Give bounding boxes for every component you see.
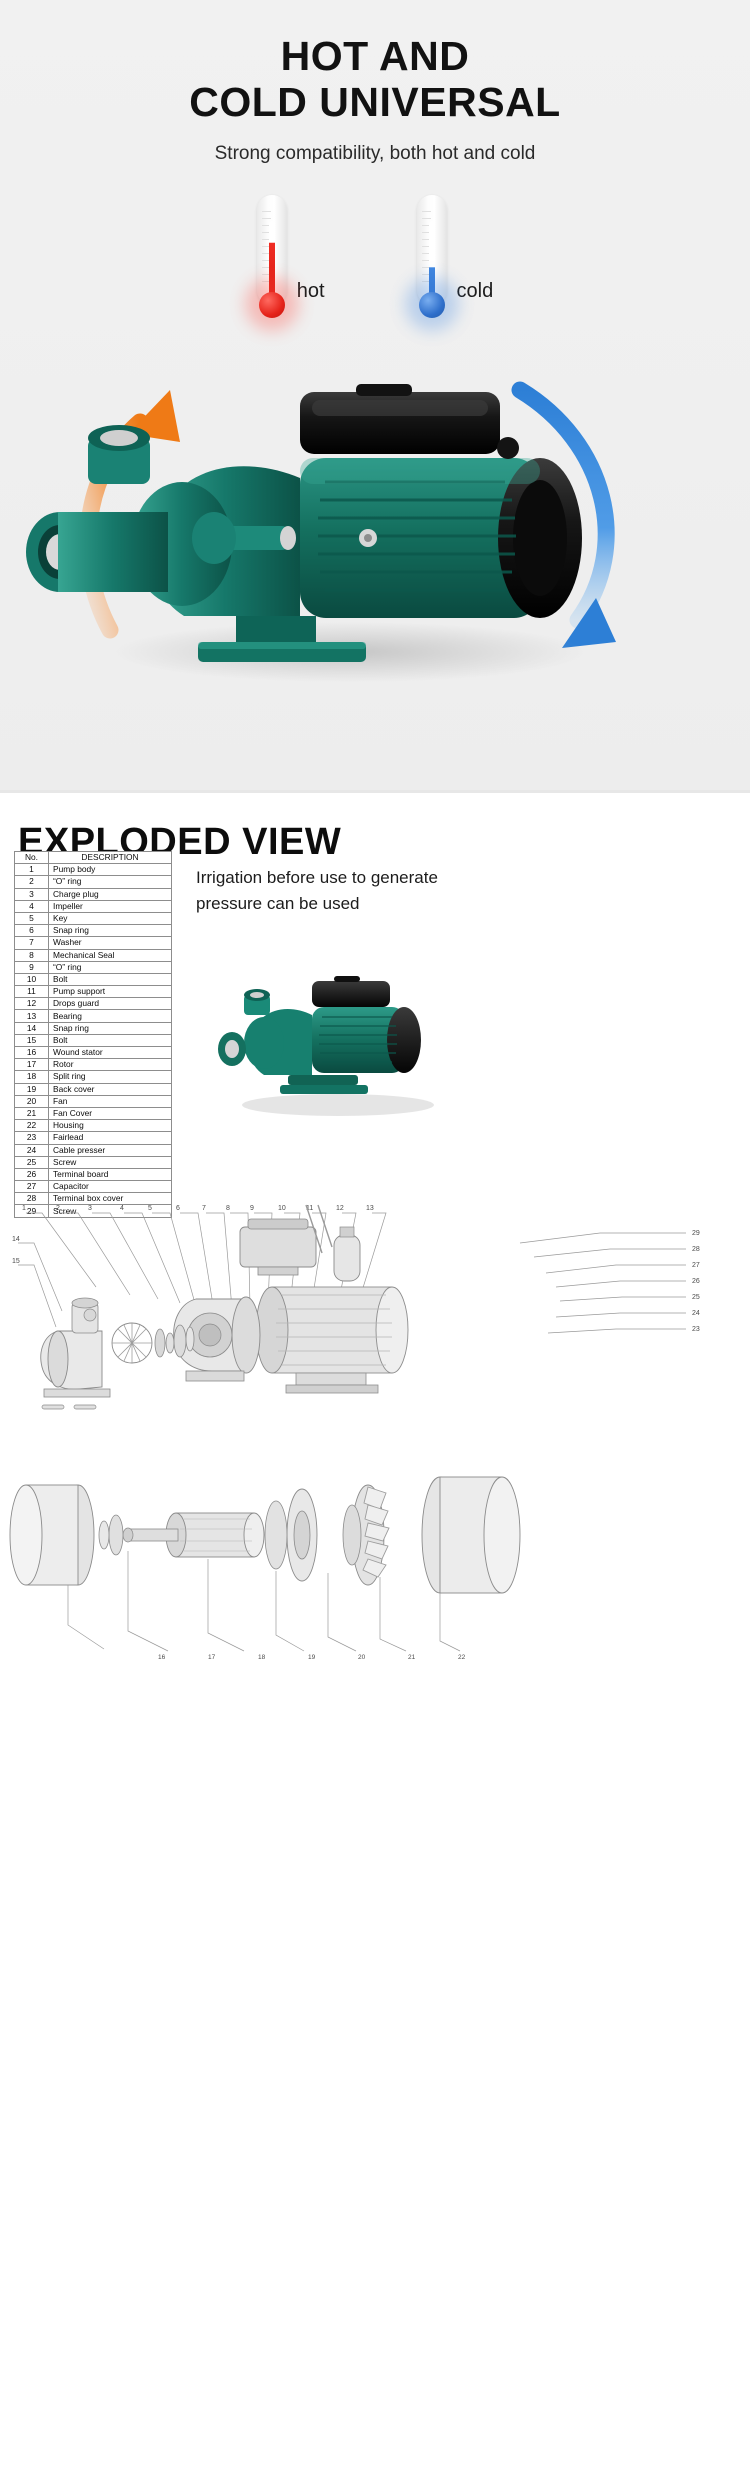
- table-row: 12Drops guard: [15, 998, 172, 1010]
- page-title: HOT AND COLD UNIVERSAL: [0, 0, 750, 126]
- cold-label: cold: [457, 280, 494, 305]
- svg-text:13: 13: [366, 1205, 374, 1212]
- svg-text:25: 25: [692, 1294, 700, 1301]
- part-description-cell: Key: [49, 912, 172, 924]
- part-number-cell: 16: [15, 1047, 49, 1059]
- pump-discharge-port: [88, 425, 150, 484]
- part-description-cell: Pump support: [49, 986, 172, 998]
- part-description-cell: Charge plug: [49, 888, 172, 900]
- page-title-line-1: HOT AND: [281, 33, 470, 79]
- part-number-cell: 17: [15, 1059, 49, 1071]
- table-row: 23Fairlead: [15, 1132, 172, 1144]
- part-number-cell: 23: [15, 1132, 49, 1144]
- thermometer-hot-icon: [257, 195, 287, 305]
- part-description-cell: Snap ring: [49, 1022, 172, 1034]
- part-end-bell: [10, 1485, 94, 1585]
- table-row: 8Mechanical Seal: [15, 949, 172, 961]
- column-header-description: DESCRIPTION: [49, 852, 172, 864]
- table-row: 19Back cover: [15, 1083, 172, 1095]
- part-description-cell: Terminal board: [49, 1168, 172, 1180]
- exploded-diagram-main-svg: 123 456 789 101112 13 1415 292827 262524…: [0, 1191, 750, 1441]
- svg-text:10: 10: [278, 1205, 286, 1212]
- table-row: 9“O” ring: [15, 961, 172, 973]
- part-description-cell: Wound stator: [49, 1047, 172, 1059]
- leader-lines-bottom: [68, 1551, 460, 1651]
- table-row: 5Key: [15, 912, 172, 924]
- callout-labels-top: 123 456 789 101112 13 1415: [12, 1205, 374, 1265]
- part-number-cell: 13: [15, 1010, 49, 1022]
- part-number-cell: 3: [15, 888, 49, 900]
- table-row: 10Bolt: [15, 973, 172, 985]
- svg-text:15: 15: [12, 1258, 20, 1265]
- part-description-cell: Housing: [49, 1120, 172, 1132]
- part-number-cell: 25: [15, 1156, 49, 1168]
- part-description-cell: Mechanical Seal: [49, 949, 172, 961]
- pump-body: [26, 425, 300, 616]
- parts-table-header-row: No. DESCRIPTION: [15, 852, 172, 864]
- part-description-cell: “O” ring: [49, 876, 172, 888]
- leader-lines-right: [520, 1233, 686, 1333]
- table-row: 25Screw: [15, 1156, 172, 1168]
- svg-text:9: 9: [250, 1205, 254, 1212]
- svg-text:16: 16: [158, 1654, 166, 1661]
- pump-terminal-box: [300, 384, 519, 459]
- parts-table-body: 1Pump body2“O” ring3Charge plug4Impeller…: [15, 864, 172, 1217]
- part-number-cell: 24: [15, 1144, 49, 1156]
- svg-text:26: 26: [692, 1278, 700, 1285]
- svg-text:1: 1: [22, 1205, 26, 1212]
- exploded-diagram-main: 123 456 789 101112 13 1415 292827 262524…: [0, 1191, 750, 1441]
- part-description-cell: Back cover: [49, 1083, 172, 1095]
- part-number-cell: 5: [15, 912, 49, 924]
- page-title-line-2: COLD UNIVERSAL: [0, 80, 750, 126]
- part-description-cell: Bolt: [49, 1034, 172, 1046]
- hero-section: HOT AND COLD UNIVERSAL Strong compatibil…: [0, 0, 750, 790]
- part-fan: [343, 1485, 389, 1585]
- hero-pump-image: [0, 330, 750, 790]
- svg-text:20: 20: [358, 1654, 366, 1661]
- callout-labels-bottom: 161718 192021 22: [158, 1654, 466, 1661]
- table-row: 7Washer: [15, 937, 172, 949]
- svg-text:4: 4: [120, 1205, 124, 1212]
- table-row: 13Bearing: [15, 1010, 172, 1022]
- part-number-cell: 26: [15, 1168, 49, 1180]
- svg-text:5: 5: [148, 1205, 152, 1212]
- table-row: 6Snap ring: [15, 925, 172, 937]
- exploded-view-note: Irrigation before use to generate pressu…: [196, 865, 496, 916]
- mini-pump-image: [208, 965, 468, 1125]
- parts-table-head: No. DESCRIPTION: [15, 852, 172, 864]
- cold-thermometer-unit: cold: [417, 195, 494, 305]
- svg-text:2: 2: [56, 1205, 60, 1212]
- table-row: 17Rotor: [15, 1059, 172, 1071]
- table-row: 15Bolt: [15, 1034, 172, 1046]
- part-back-cover: [265, 1489, 317, 1581]
- svg-text:24: 24: [692, 1310, 700, 1317]
- svg-text:6: 6: [176, 1205, 180, 1212]
- part-number-cell: 18: [15, 1071, 49, 1083]
- pump-illustration: [0, 330, 750, 790]
- table-row: 11Pump support: [15, 986, 172, 998]
- part-number-cell: 10: [15, 973, 49, 985]
- hot-label: hot: [297, 280, 325, 305]
- table-row: 3Charge plug: [15, 888, 172, 900]
- part-description-cell: Impeller: [49, 900, 172, 912]
- part-number-cell: 11: [15, 986, 49, 998]
- exploded-diagram-rotor: 161718 192021 22: [8, 1413, 750, 1663]
- svg-text:18: 18: [258, 1654, 266, 1661]
- hot-thermometer-unit: hot: [257, 195, 325, 305]
- thermometer-bulb-cold: [419, 292, 445, 318]
- table-row: 24Cable presser: [15, 1144, 172, 1156]
- part-number-cell: 12: [15, 998, 49, 1010]
- part-number-cell: 20: [15, 1095, 49, 1107]
- page-subtitle: Strong compatibility, both hot and cold: [0, 143, 750, 165]
- thermometer-row: hot cold: [0, 185, 750, 305]
- mini-pump-illustration: [208, 965, 468, 1125]
- part-fan-cover: [422, 1477, 520, 1593]
- table-row: 18Split ring: [15, 1071, 172, 1083]
- table-row: 14Snap ring: [15, 1022, 172, 1034]
- part-description-cell: Split ring: [49, 1071, 172, 1083]
- thermometer-bulb-hot: [259, 292, 285, 318]
- svg-text:27: 27: [692, 1262, 700, 1269]
- thermometer-cold-icon: [417, 195, 447, 305]
- part-number-cell: 22: [15, 1120, 49, 1132]
- exploded-view-section: EXPLODED VIEW Irrigation before use to g…: [0, 790, 750, 2467]
- part-description-cell: Bearing: [49, 1010, 172, 1022]
- part-description-cell: Pump body: [49, 864, 172, 876]
- pump-motor: [300, 458, 582, 618]
- part-number-cell: 21: [15, 1107, 49, 1119]
- svg-text:14: 14: [12, 1236, 20, 1243]
- table-row: 2“O” ring: [15, 876, 172, 888]
- parts-table: No. DESCRIPTION 1Pump body2“O” ring3Char…: [14, 851, 172, 1218]
- table-row: 26Terminal board: [15, 1168, 172, 1180]
- part-number-cell: 7: [15, 937, 49, 949]
- svg-text:7: 7: [202, 1205, 206, 1212]
- part-description-cell: Cable presser: [49, 1144, 172, 1156]
- svg-text:3: 3: [88, 1205, 92, 1212]
- part-description-cell: Fairlead: [49, 1132, 172, 1144]
- part-description-cell: Washer: [49, 937, 172, 949]
- part-description-cell: Snap ring: [49, 925, 172, 937]
- part-number-cell: 6: [15, 925, 49, 937]
- part-number-cell: 15: [15, 1034, 49, 1046]
- svg-text:28: 28: [692, 1246, 700, 1253]
- svg-text:22: 22: [458, 1654, 466, 1661]
- part-rotor: [123, 1513, 264, 1557]
- callout-labels-right: 292827 262524 23: [692, 1230, 700, 1333]
- svg-text:17: 17: [208, 1654, 216, 1661]
- table-row: 21Fan Cover: [15, 1107, 172, 1119]
- part-description-cell: Rotor: [49, 1059, 172, 1071]
- part-number-cell: 19: [15, 1083, 49, 1095]
- part-description-cell: Screw: [49, 1156, 172, 1168]
- table-row: 4Impeller: [15, 900, 172, 912]
- part-number-cell: 4: [15, 900, 49, 912]
- svg-text:21: 21: [408, 1654, 416, 1661]
- part-number-cell: 14: [15, 1022, 49, 1034]
- part-number-cell: 1: [15, 864, 49, 876]
- table-row: 1Pump body: [15, 864, 172, 876]
- part-description-cell: Fan: [49, 1095, 172, 1107]
- table-row: 22Housing: [15, 1120, 172, 1132]
- svg-text:29: 29: [692, 1230, 700, 1237]
- svg-text:19: 19: [308, 1654, 316, 1661]
- svg-text:8: 8: [226, 1205, 230, 1212]
- part-description-cell: “O” ring: [49, 961, 172, 973]
- part-description-cell: Bolt: [49, 973, 172, 985]
- table-row: 16Wound stator: [15, 1047, 172, 1059]
- part-number-cell: 8: [15, 949, 49, 961]
- part-terminal-box: [240, 1205, 360, 1281]
- svg-text:12: 12: [336, 1205, 344, 1212]
- part-bearing: [99, 1515, 123, 1555]
- part-description-cell: Fan Cover: [49, 1107, 172, 1119]
- table-row: 20Fan: [15, 1095, 172, 1107]
- part-number-cell: 9: [15, 961, 49, 973]
- svg-text:23: 23: [692, 1326, 700, 1333]
- part-number-cell: 2: [15, 876, 49, 888]
- part-description-cell: Drops guard: [49, 998, 172, 1010]
- part-motor-housing: [256, 1287, 408, 1393]
- exploded-diagram-rotor-svg: 161718 192021 22: [8, 1413, 750, 1663]
- column-header-no: No.: [15, 852, 49, 864]
